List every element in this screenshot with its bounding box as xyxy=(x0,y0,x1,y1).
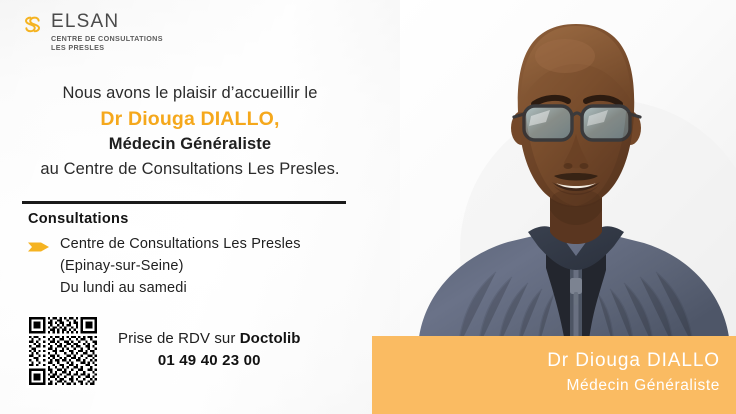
consultation-item-text: Centre de Consultations Les Presles xyxy=(60,233,301,255)
consultations-list: Centre de Consultations Les Presles (Epi… xyxy=(28,233,301,299)
banner-doctor-name: Dr Diouga DIALLO xyxy=(372,347,720,374)
brand-wordmark: ELSAN CENTRE DE CONSULTATIONS LES PRESLE… xyxy=(51,12,163,53)
consultations-section: Consultations Centre de Consultations Le… xyxy=(28,209,301,299)
booking-text: Prise de RDV sur Doctolib 01 49 40 23 00 xyxy=(118,328,301,375)
consultation-item-text: (Epinay-sur-Seine) xyxy=(60,255,184,277)
brand-subtitle-line1: CENTRE DE CONSULTATIONS xyxy=(51,34,163,43)
list-item: Du lundi au samedi xyxy=(28,277,301,299)
brand-subtitle-line2: LES PRESLES xyxy=(51,43,163,52)
arrow-right-pennant-icon xyxy=(28,238,50,250)
headline-location: au Centre de Consultations Les Presles. xyxy=(16,157,364,181)
list-item: Centre de Consultations Les Presles xyxy=(28,233,301,255)
headline-intro: Nous avons le plaisir d’accueillir le xyxy=(16,82,364,104)
brand-logo: ELSAN CENTRE DE CONSULTATIONS LES PRESLE… xyxy=(22,12,163,53)
list-item: (Epinay-sur-Seine) xyxy=(28,255,301,277)
consultation-item-text: Du lundi au samedi xyxy=(60,277,187,299)
booking-platform[interactable]: Doctolib xyxy=(240,330,301,347)
doctor-name-banner: Dr Diouga DIALLO Médecin Généraliste xyxy=(372,336,736,414)
doctor-portrait-photo xyxy=(400,0,736,348)
booking-section: Prise de RDV sur Doctolib 01 49 40 23 00 xyxy=(26,314,301,388)
booking-phone[interactable]: 01 49 40 23 00 xyxy=(118,350,301,371)
consultations-title: Consultations xyxy=(28,209,301,229)
booking-prefix: Prise de RDV sur xyxy=(118,330,240,347)
booking-line: Prise de RDV sur Doctolib xyxy=(118,328,301,349)
brand-name: ELSAN xyxy=(51,12,163,31)
headline-doctor-name: Dr Diouga DIALLO, xyxy=(16,106,364,133)
elsan-logo-icon xyxy=(22,14,43,35)
qr-code-icon[interactable] xyxy=(26,314,100,388)
headline-doctor-role: Médecin Généraliste xyxy=(16,133,364,156)
poster-canvas: ELSAN CENTRE DE CONSULTATIONS LES PRESLE… xyxy=(0,0,736,414)
welcome-headline: Nous avons le plaisir d’accueillir le Dr… xyxy=(16,82,364,181)
banner-doctor-role: Médecin Généraliste xyxy=(372,374,720,398)
section-divider xyxy=(22,201,346,204)
